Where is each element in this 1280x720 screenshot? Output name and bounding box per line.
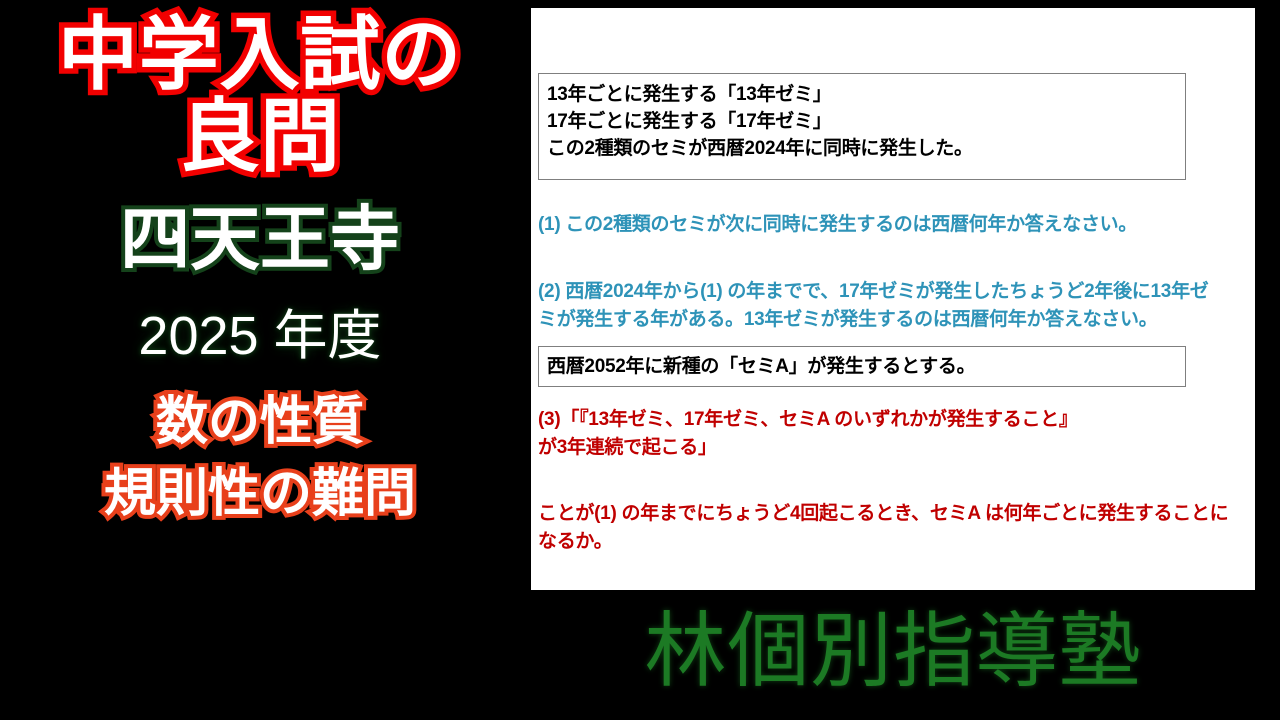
question-1-line-1: (1) この2種類のセミが次に同時に発生するのは西暦何年か答えなさい。 — [538, 211, 1255, 239]
question-3: (3)「『13年ゼミ、17年ゼミ、セミA のいずれかが発生すること』 が3年連続… — [538, 406, 1255, 462]
question-2-line-1: (2) 西暦2024年から(1) の年までで、17年ゼミが発生したちょうど2年後… — [538, 278, 1255, 306]
question-3-line-3: ことが(1) の年までにちょうど4回起こるとき、セミA は何年ごとに発生すること… — [538, 500, 1255, 528]
question-3-line-1: (3)「『13年ゼミ、17年ゼミ、セミA のいずれかが発生すること』 — [538, 406, 1255, 434]
topic-label-hard-sequence: 規則性の難問 — [104, 466, 416, 522]
topic-label-number-properties: 数の性質 — [156, 394, 364, 450]
school-name: 四天王寺 — [120, 203, 400, 277]
brand-name: 林個別指導塾 — [531, 596, 1255, 708]
problem-panel: 13年ごとに発生する「13年ゼミ」 17年ごとに発生する「17年ゼミ」 この2種… — [531, 8, 1255, 590]
question-3-line-4: なるか。 — [538, 528, 1255, 556]
question-3-line-2: が3年連続で起こる」 — [538, 434, 1255, 462]
question-2: (2) 西暦2024年から(1) の年までで、17年ゼミが発生したちょうど2年後… — [538, 278, 1255, 334]
title-column: 中学入試の 良問 四天王寺 2025 年度 数の性質 規則性の難問 — [0, 0, 520, 720]
slide-canvas: 中学入試の 良問 四天王寺 2025 年度 数の性質 規則性の難問 13年ごとに… — [0, 0, 1280, 720]
question-2-line-2: ミが発生する年がある。13年ゼミが発生するのは西暦何年か答えなさい。 — [538, 306, 1255, 334]
year-label: 2025 年度 — [138, 307, 381, 366]
page-title-line1: 中学入試の — [58, 10, 462, 99]
question-3-continuation: ことが(1) の年までにちょうど4回起こるとき、セミA は何年ごとに発生すること… — [538, 500, 1255, 556]
premise-2-line-1: 西暦2052年に新種の「セミA」が発生するとする。 — [547, 354, 1175, 381]
premise-line-1: 13年ごとに発生する「13年ゼミ」 — [547, 82, 1175, 109]
page-title: 中学入試の 良問 — [58, 14, 462, 177]
premise-box-cicadas: 13年ごとに発生する「13年ゼミ」 17年ごとに発生する「17年ゼミ」 この2種… — [538, 73, 1186, 180]
premise-box-new-species: 西暦2052年に新種の「セミA」が発生するとする。 — [538, 346, 1186, 387]
page-title-line2: 良問 — [58, 96, 462, 178]
question-1: (1) この2種類のセミが次に同時に発生するのは西暦何年か答えなさい。 — [538, 211, 1255, 239]
premise-line-2: 17年ごとに発生する「17年ゼミ」 — [547, 109, 1175, 136]
problem-panel-inner: 13年ごとに発生する「13年ゼミ」 17年ごとに発生する「17年ゼミ」 この2種… — [531, 8, 1255, 590]
premise-line-3: この2種類のセミが西暦2024年に同時に発生した。 — [547, 136, 1175, 163]
